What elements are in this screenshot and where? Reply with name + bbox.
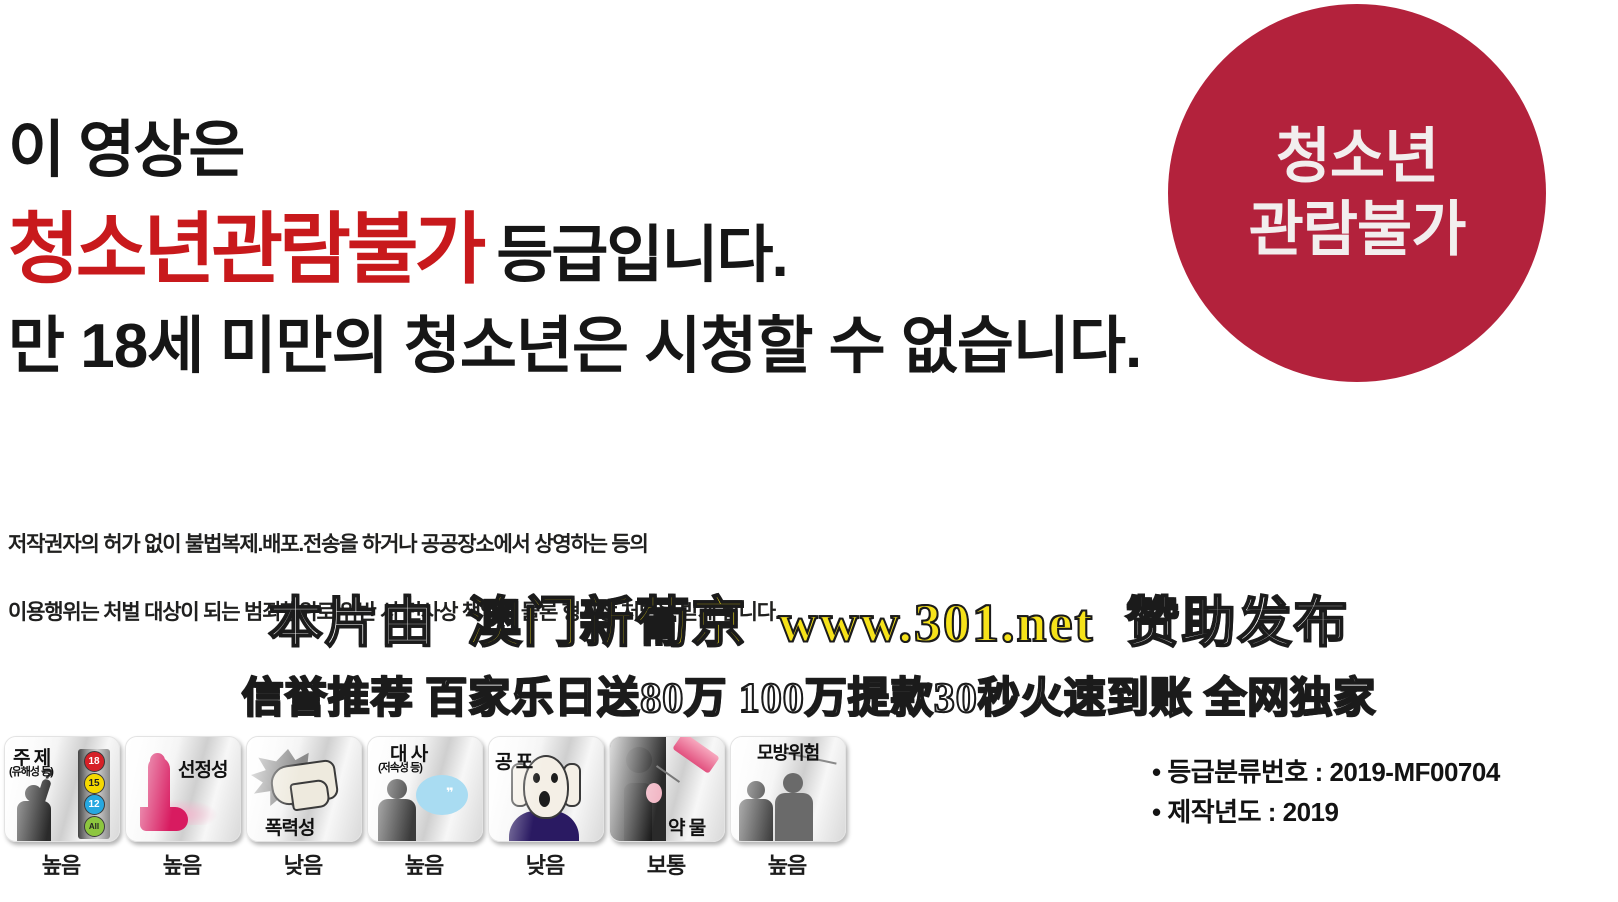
dialogue-speech-icon: ❞ 대 사 (저속성 등) <box>367 736 483 842</box>
drugs-syringe-icon: 약 물 <box>609 736 725 842</box>
meta-classification-number: • 등급분류번호 : 2019-MF00704 <box>1152 752 1618 792</box>
rating-value-imitation: 높음 <box>730 848 844 880</box>
person-arm-shape <box>35 778 52 806</box>
watermark-line-2: 信誉推荐 百家乐日送80万 100万提款30秒火速到账 全网独家 <box>0 678 1618 720</box>
tile-title-fear: 공 포 <box>495 747 532 774</box>
rating-badge: 청소년 관람불가 <box>1168 4 1546 382</box>
headline-line-2: 청소년관람불가등급입니다. <box>8 210 1168 288</box>
tile-subtitle-theme: (유해성 등) <box>9 763 53 779</box>
age-chip-strip: 18 15 12 All <box>78 749 110 839</box>
rating-item-fear: 공 포 낮음 <box>488 736 602 880</box>
tile-title-violence: 폭력성 <box>265 813 314 840</box>
silhouette-legs <box>140 807 188 831</box>
headline-line-2-rest: 등급입니다. <box>496 221 786 290</box>
violence-fist-icon: 폭력성 <box>246 736 362 842</box>
scream-eye-right <box>551 773 558 783</box>
rating-item-dialogue: ❞ 대 사 (저속성 등) 높음 <box>367 736 481 880</box>
rating-item-drugs: 약 물 보통 <box>609 736 723 880</box>
speech-bubble-shape <box>416 775 468 815</box>
tile-subtitle-dialogue: (저속성 등) <box>378 759 422 775</box>
headline-line-3: 만 18세 미만의 청소년은 시청할 수 없습니다. <box>8 316 1168 378</box>
model-head-shape <box>747 781 765 799</box>
speaker-body-shape <box>378 799 416 841</box>
rating-item-violence: 폭력성 낮음 <box>246 736 360 880</box>
rating-icon-strip: ? 18 15 12 All 주 제 (유해성 등) 높음 선정성 <box>4 736 844 902</box>
rating-value-theme: 높음 <box>4 848 118 880</box>
fear-scream-icon: 공 포 <box>488 736 604 842</box>
meta-production-year: • 제작년도 : 2019 <box>1152 792 1618 832</box>
silhouette-torso <box>148 757 170 811</box>
injection-spot-shape <box>646 783 662 803</box>
scream-mouth-shape <box>539 791 550 807</box>
headline-block: 이 영상은 청소년관람불가등급입니다. 만 18세 미만의 청소년은 시청할 수… <box>8 120 1168 378</box>
rating-value-fear: 낮음 <box>488 848 602 880</box>
person-body-shape <box>17 801 51 841</box>
headline-emphasis: 청소년관람불가 <box>8 205 482 293</box>
rating-item-imitation: 모방위험 높음 <box>730 736 844 880</box>
headline-line-1: 이 영상은 <box>8 120 1168 182</box>
age-chip-18: 18 <box>84 751 105 772</box>
syringe-barrel-shape <box>672 736 720 774</box>
tile-title-imitation: 모방위험 <box>757 739 819 765</box>
rating-value-sexuality: 높음 <box>125 848 239 880</box>
rating-badge-line2: 관람불가 <box>1249 198 1466 261</box>
rating-value-violence: 낮음 <box>246 848 360 880</box>
drug-user-head-shape <box>626 747 652 773</box>
certification-meta-list: • 등급분류번호 : 2019-MF00704 • 제작년도 : 2019 <box>1152 752 1618 833</box>
imitator-body-shape <box>775 793 813 841</box>
fineprint-line-2: 이용행위는 처벌 대상이 되는 범죄행위로 위반 시 민사상 책임은 물론 형사… <box>8 596 1208 626</box>
theme-person-icon: ? 18 15 12 All 주 제 (유해성 등) <box>4 736 120 842</box>
model-body-shape <box>739 799 773 841</box>
imitator-head-shape <box>783 773 803 793</box>
speech-bubble-highlight: ❞ <box>446 785 454 801</box>
fineprint-line-1: 저작권자의 허가 없이 불법복제.배포.전송을 하거나 공공장소에서 상영하는 … <box>8 528 1208 558</box>
rating-value-dialogue: 높음 <box>367 848 481 880</box>
sexuality-silhouette-icon: 선정성 <box>125 736 241 842</box>
fineprint-block: 저작권자의 허가 없이 불법복제.배포.전송을 하거나 공공장소에서 상영하는 … <box>8 528 1208 626</box>
rating-item-sexuality: 선정성 높음 <box>125 736 239 880</box>
rating-value-drugs: 보통 <box>609 848 723 880</box>
age-chip-12: 12 <box>84 794 105 815</box>
scream-eye-left <box>533 773 540 783</box>
age-chip-all: All <box>84 816 105 837</box>
tile-title-sexuality: 선정성 <box>178 755 227 782</box>
rating-badge-line1: 청소년 <box>1276 125 1439 188</box>
rating-item-theme: ? 18 15 12 All 주 제 (유해성 등) 높음 <box>4 736 118 880</box>
speaker-head-shape <box>387 779 407 799</box>
tile-title-drugs: 약 물 <box>668 813 705 840</box>
age-chip-15: 15 <box>84 773 105 794</box>
imitation-risk-icon: 모방위험 <box>730 736 846 842</box>
fist-knuckle-shape <box>289 778 331 811</box>
